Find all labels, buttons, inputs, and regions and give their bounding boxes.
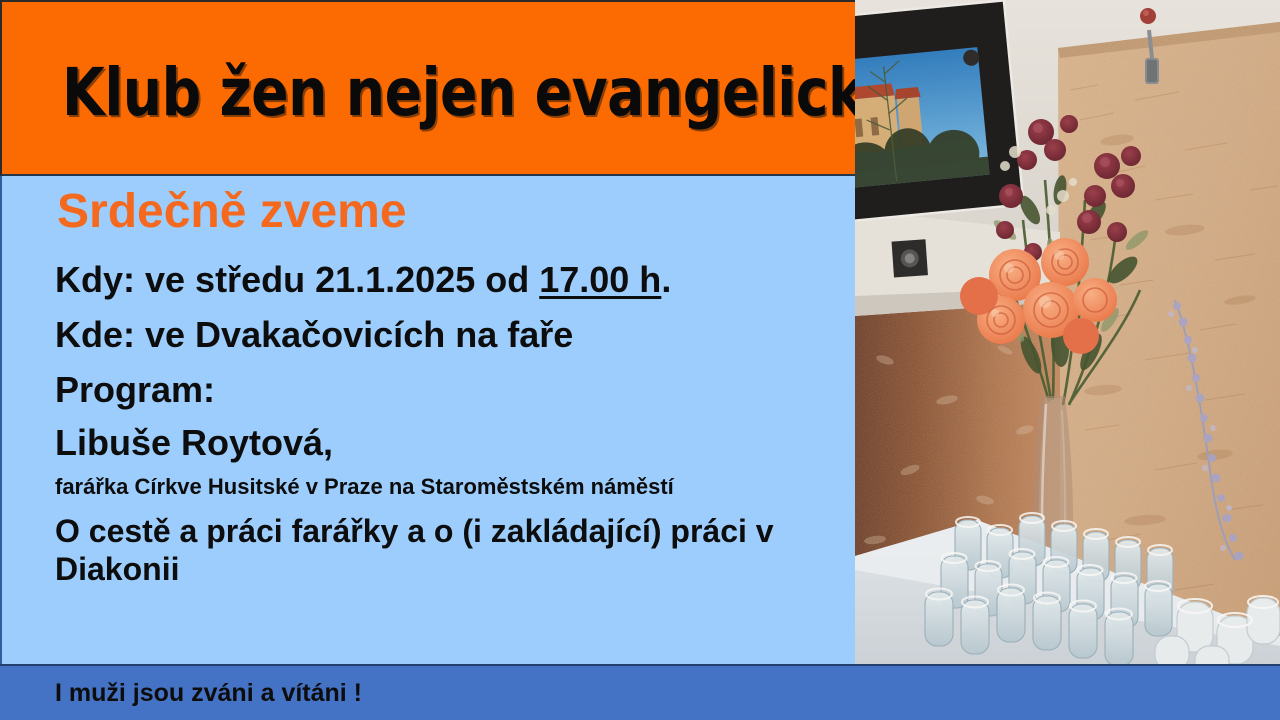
page-title: Klub žen nejen evangelických: [62, 59, 855, 127]
footer-note: I muži jsou zváni a vítáni !: [55, 677, 362, 709]
program-topic: O cestě a práci farářky a o (i zakládají…: [55, 506, 815, 588]
when-date: 21.1.2025: [315, 259, 475, 300]
speaker-role: farářka Církve Husitské v Praze na Staro…: [55, 468, 855, 506]
venue-photo-illustration: [855, 0, 1280, 664]
content-panel: Srdečně zveme Kdy: ve středu 21.1.2025 o…: [0, 176, 855, 664]
detail-when: Kdy: ve středu 21.1.2025 od 17.00 h.: [55, 252, 855, 308]
when-label: Kdy: ve středu: [55, 259, 315, 300]
when-connector: od: [475, 259, 539, 300]
invitation-lead: Srdečně zveme: [57, 184, 407, 240]
when-time: 17.00 h: [539, 259, 661, 300]
detail-program-label: Program:: [55, 362, 855, 418]
footer-band: I muži jsou zváni a vítáni !: [0, 664, 1280, 720]
header-band: Klub žen nejen evangelických: [0, 0, 855, 176]
speaker-name: Libuše Roytová,: [55, 418, 855, 468]
poster: Klub žen nejen evangelických Srdečně zve…: [0, 0, 1280, 720]
venue-photo: [855, 0, 1280, 664]
details-list: Kdy: ve středu 21.1.2025 od 17.00 h. Kde…: [55, 252, 855, 588]
detail-where: Kde: ve Dvakačovicích na faře: [55, 308, 855, 362]
when-period: .: [661, 259, 671, 300]
